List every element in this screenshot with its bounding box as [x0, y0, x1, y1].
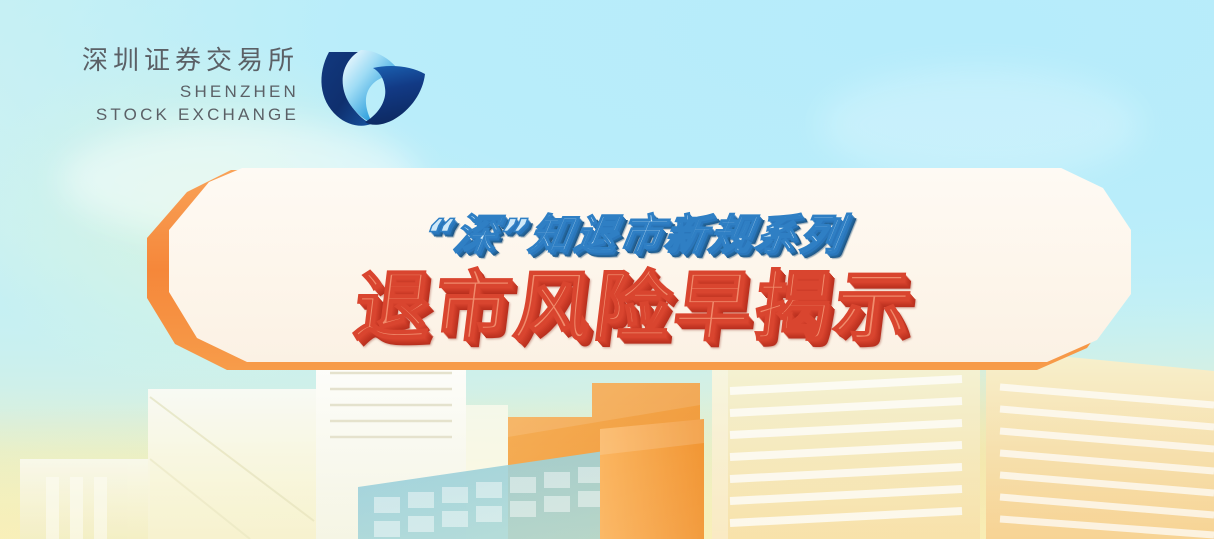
logo-english-name-line1: SHENZHEN: [180, 81, 299, 102]
logo-wordmark: 深圳证券交易所 SHENZHEN STOCK EXCHANGE: [82, 48, 299, 126]
logo-chinese-name: 深圳证券交易所: [82, 48, 299, 74]
poster-headline: 退市风险早揭示: [350, 268, 920, 346]
plaque-text-group: “深”知退市新规系列 退市风险早揭示: [135, 168, 1135, 373]
title-plaque: “深”知退市新规系列 退市风险早揭示: [135, 168, 1135, 373]
szse-logo-block: 深圳证券交易所 SHENZHEN STOCK EXCHANGE: [82, 48, 431, 134]
poster-canvas: 深圳证券交易所 SHENZHEN STOCK EXCHANGE: [0, 0, 1214, 539]
cloud-shape-2: [820, 70, 1140, 180]
logo-english-name-line2: STOCK EXCHANGE: [96, 104, 299, 125]
poster-subtitle: “深”知退市新规系列: [420, 201, 850, 262]
szse-leaf-logo-icon: [313, 34, 431, 134]
